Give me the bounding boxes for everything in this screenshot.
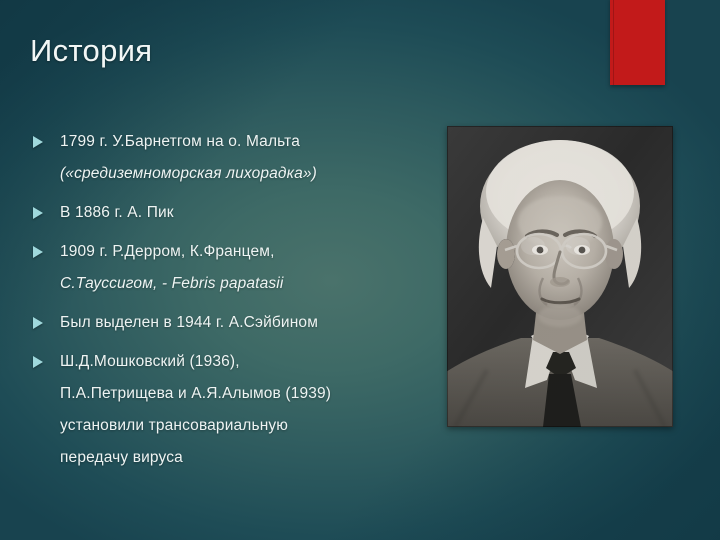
triangle-bullet-icon <box>33 246 43 258</box>
triangle-bullet-icon <box>33 356 43 368</box>
bullet-text: установили трансовариальную <box>60 415 288 437</box>
bullet-text: П.А.Петрищева и А.Я.Алымов (1939) <box>60 383 331 405</box>
triangle-bullet-icon <box>33 317 43 329</box>
portrait-photograph-graphic <box>447 126 673 427</box>
bullet-line: В 1886 г. А. Пик <box>30 202 430 224</box>
bullet-line-continuation: установили трансовариальную <box>30 415 430 437</box>
red-accent-bar <box>610 0 665 85</box>
bullet-list: 1799 г. У.Барнетгом на о. Мальта («среди… <box>30 131 430 469</box>
bullet-item: В 1886 г. А. Пик <box>30 202 430 224</box>
triangle-bullet-icon <box>33 207 43 219</box>
bullet-text: С.Тауссигом, - Febris papatasii <box>60 273 283 295</box>
bullet-text: 1909 г. Р.Дерром, К.Францем, <box>60 241 275 263</box>
bullet-line-continuation: С.Тауссигом, - Febris papatasii <box>30 273 430 295</box>
bullet-line: 1909 г. Р.Дерром, К.Францем, <box>30 241 430 263</box>
bullet-line-continuation: («средиземноморская лихорадка») <box>30 163 430 185</box>
bullet-item: 1909 г. Р.Дерром, К.Францем, С.Тауссигом… <box>30 241 430 295</box>
bullet-text: передачу вируса <box>60 447 183 469</box>
bullet-line-continuation: П.А.Петрищева и А.Я.Алымов (1939) <box>30 383 430 405</box>
bullet-line: Был выделен в 1944 г. А.Сэйбином <box>30 312 430 334</box>
bullet-text: Ш.Д.Мошковский (1936), <box>60 351 240 373</box>
bullet-item: 1799 г. У.Барнетгом на о. Мальта («среди… <box>30 131 430 185</box>
bullet-line-continuation: передачу вируса <box>30 447 430 469</box>
bullet-item: Ш.Д.Мошковский (1936), П.А.Петрищева и А… <box>30 351 430 469</box>
bullet-item: Был выделен в 1944 г. А.Сэйбином <box>30 312 430 334</box>
bullet-line: Ш.Д.Мошковский (1936), <box>30 351 430 373</box>
bullet-text: Был выделен в 1944 г. А.Сэйбином <box>60 312 318 334</box>
bullet-text: 1799 г. У.Барнетгом на о. Мальта <box>60 131 300 153</box>
triangle-bullet-icon <box>33 136 43 148</box>
bullet-text: («средиземноморская лихорадка») <box>60 163 317 185</box>
bullet-text: В 1886 г. А. Пик <box>60 202 174 224</box>
slide-title: История <box>30 33 152 69</box>
presentation-slide: История 1799 г. У.Барнетгом на о. Мальта… <box>0 0 720 540</box>
accent-bar-seam <box>613 0 614 85</box>
bullet-line: 1799 г. У.Барнетгом на о. Мальта <box>30 131 430 153</box>
portrait-photograph <box>447 126 673 427</box>
